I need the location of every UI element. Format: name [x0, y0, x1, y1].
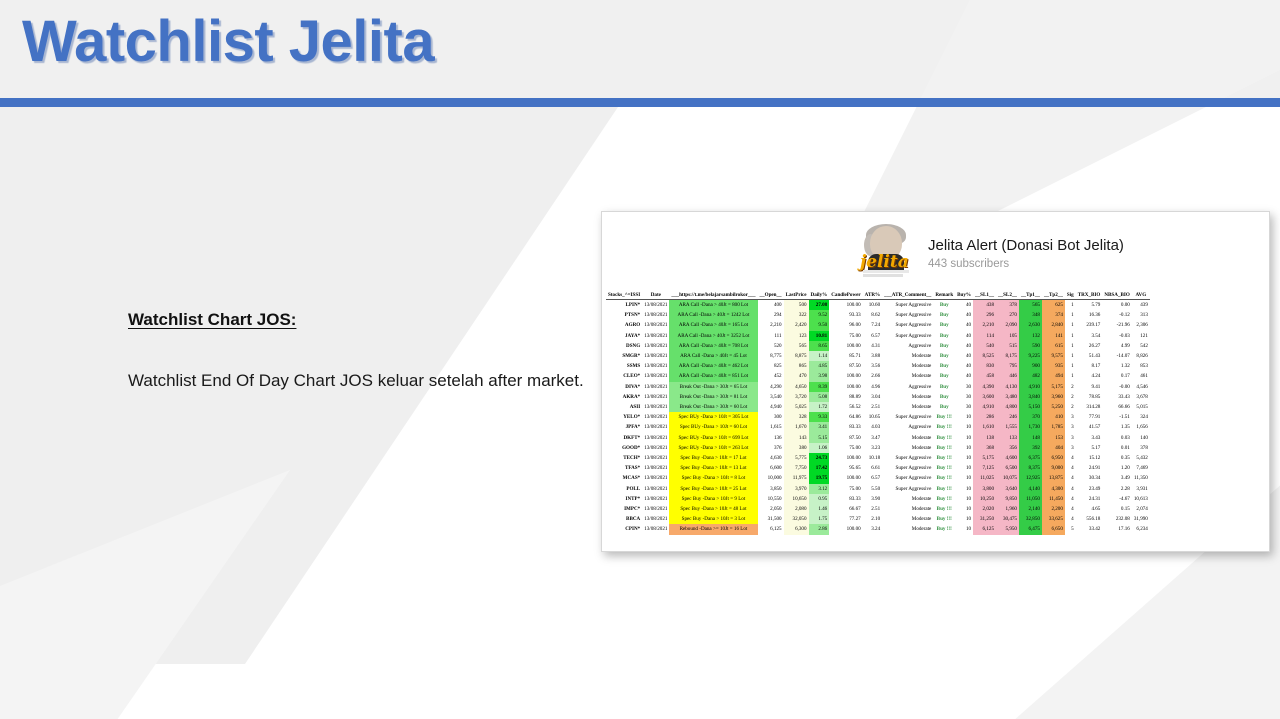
- cell-trx: 3.43: [1076, 433, 1103, 443]
- cell-date: 13/08/2021: [642, 300, 669, 311]
- cell-sig: 1: [1065, 331, 1076, 341]
- cell-cp: 100.00: [829, 371, 862, 381]
- cell-open: 3,540: [758, 392, 784, 402]
- cell-date: 13/08/2021: [642, 433, 669, 443]
- cell-tp2: 5,175: [1042, 382, 1065, 392]
- cell-sig: 1: [1065, 361, 1076, 371]
- cell-tp1: 370: [1019, 412, 1042, 422]
- cell-tick: CLEO*: [606, 371, 642, 381]
- table-row: ASII13/08/2021Break Out -Dana > 30Jt = 6…: [606, 402, 1150, 412]
- cell-last: 470: [784, 371, 809, 381]
- cell-sl2: 795: [996, 361, 1019, 371]
- cell-daily: 8.39: [809, 382, 830, 392]
- cell-url: Spec BUy -Dana > 10Jt = 699 Lot: [669, 433, 757, 443]
- cell-cp: 56.52: [829, 402, 862, 412]
- cell-daily: 1.46: [809, 504, 830, 514]
- cell-nbsa: 66.66: [1102, 402, 1131, 412]
- cell-tp2: 615: [1042, 341, 1065, 351]
- cell-daily: 9.33: [809, 412, 830, 422]
- slide-canvas: Watchlist Jelita Watchlist Chart JOS: Wa…: [0, 0, 1280, 719]
- channel-name: Jelita Alert (Donasi Bot Jelita): [928, 237, 1124, 254]
- cell-cp: 75.00: [829, 484, 862, 494]
- cell-buy: 10: [955, 494, 973, 504]
- cell-date: 13/08/2021: [642, 341, 669, 351]
- cell-cmt: Aggressive: [882, 422, 933, 432]
- cell-open: 3,850: [758, 484, 784, 494]
- cell-sig: 4: [1065, 473, 1076, 483]
- cell-nbsa: -4.67: [1102, 494, 1131, 504]
- cell-avg: 5,015: [1132, 402, 1150, 412]
- accent-bar: [0, 98, 1280, 107]
- cell-rmk: Buy: [933, 331, 955, 341]
- cell-sl2: 6,500: [996, 463, 1019, 473]
- cell-url: ARA Call -Dana > 40Jt = 851 Lot: [669, 371, 757, 381]
- cell-open: 376: [758, 443, 784, 453]
- cell-atr: 4.03: [863, 422, 882, 432]
- cell-buy: 10: [955, 514, 973, 524]
- cell-url: ARA Call -Dana > 40Jt = 800 Lot: [669, 300, 757, 311]
- table-row: AKRA*13/08/2021Break Out -Dana > 30Jt = …: [606, 392, 1150, 402]
- cell-atr: 3.04: [863, 392, 882, 402]
- cell-nbsa: 1.32: [1102, 361, 1131, 371]
- cell-last: 380: [784, 443, 809, 453]
- column-header: __SL1__: [973, 292, 996, 300]
- table-row: MCAS*13/08/2021Spec Buy -Dana > 10Jt = 8…: [606, 473, 1150, 483]
- cell-sl1: 7,125: [973, 463, 996, 473]
- cell-url: Break Out -Dana > 30Jt = 65 Lot: [669, 382, 757, 392]
- cell-rmk: Buy: [933, 300, 955, 311]
- cell-tp1: 9,225: [1019, 351, 1042, 361]
- cell-nbsa: 0.00: [1102, 300, 1131, 311]
- cell-sl1: 6,125: [973, 524, 996, 534]
- avatar-wordmark: jelita: [860, 252, 909, 272]
- cell-rmk: Buy !!!: [933, 473, 955, 483]
- section-paragraph: Watchlist End Of Day Chart JOS keluar se…: [128, 368, 598, 394]
- channel-header: jelita Jelita Alert (Donasi Bot Jelita) …: [602, 212, 1269, 286]
- cell-cmt: Moderate: [882, 504, 933, 514]
- cell-trx: 5.17: [1076, 443, 1103, 453]
- embedded-screenshot: jelita Jelita Alert (Donasi Bot Jelita) …: [601, 211, 1270, 552]
- cell-tp2: 410: [1042, 412, 1065, 422]
- cell-trx: 41.57: [1076, 422, 1103, 432]
- cell-cp: 93.33: [829, 310, 862, 320]
- cell-tp1: 5,150: [1019, 402, 1042, 412]
- cell-tp1: 12,925: [1019, 473, 1042, 483]
- cell-tick: INTP*: [606, 494, 642, 504]
- cell-atr: 3.23: [863, 443, 882, 453]
- cell-cmt: Super Aggressive: [882, 484, 933, 494]
- cell-tick: SMGR*: [606, 351, 642, 361]
- cell-sl1: 3,800: [973, 484, 996, 494]
- cell-tp1: 4,910: [1019, 382, 1042, 392]
- cell-buy: 30: [955, 402, 973, 412]
- cell-cp: 100.00: [829, 300, 862, 311]
- cell-open: 2,050: [758, 504, 784, 514]
- cell-buy: 40: [955, 371, 973, 381]
- cell-trx: 8.17: [1076, 361, 1103, 371]
- cell-daily: 1.14: [809, 351, 830, 361]
- cell-date: 13/08/2021: [642, 453, 669, 463]
- cell-sig: 4: [1065, 504, 1076, 514]
- cell-last: 565: [784, 341, 809, 351]
- cell-cp: 100.00: [829, 341, 862, 351]
- cell-atr: 4.96: [863, 382, 882, 392]
- cell-sl2: 356: [996, 443, 1019, 453]
- cell-avg: 542: [1132, 341, 1150, 351]
- cell-tick: JPFA*: [606, 422, 642, 432]
- cell-url: ARA Call -Dana > 40Jt = 165 Lot: [669, 320, 757, 330]
- cell-tp2: 935: [1042, 361, 1065, 371]
- cell-sl2: 8,175: [996, 351, 1019, 361]
- cell-last: 2,420: [784, 320, 809, 330]
- cell-sl2: 10,075: [996, 473, 1019, 483]
- cell-tick: AKRA*: [606, 392, 642, 402]
- cell-url: ARA Call -Dana > 40Jt = 708 Lot: [669, 341, 757, 351]
- cell-sl1: 368: [973, 443, 996, 453]
- cell-tp1: 2,140: [1019, 504, 1042, 514]
- cell-tp1: 132: [1019, 331, 1042, 341]
- cell-tp2: 2,200: [1042, 504, 1065, 514]
- cell-atr: 6.61: [863, 463, 882, 473]
- cell-sig: 4: [1065, 463, 1076, 473]
- cell-atr: 4.31: [863, 341, 882, 351]
- cell-nbsa: -0.03: [1102, 331, 1131, 341]
- cell-sl1: 114: [973, 331, 996, 341]
- cell-daily: 5.15: [809, 433, 830, 443]
- cell-cmt: Moderate: [882, 433, 933, 443]
- cell-daily: 0.95: [809, 494, 830, 504]
- cell-cp: 66.67: [829, 504, 862, 514]
- cell-cp: 96.00: [829, 320, 862, 330]
- cell-rmk: Buy: [933, 371, 955, 381]
- cell-last: 8,875: [784, 351, 809, 361]
- cell-daily: 24.73: [809, 453, 830, 463]
- cell-last: 7,750: [784, 463, 809, 473]
- cell-sl2: 3,640: [996, 484, 1019, 494]
- cell-tp1: 348: [1019, 310, 1042, 320]
- cell-rmk: Buy !!!: [933, 433, 955, 443]
- cell-date: 13/08/2021: [642, 392, 669, 402]
- cell-date: 13/08/2021: [642, 484, 669, 494]
- cell-rmk: Buy !!!: [933, 494, 955, 504]
- cell-daily: 1.72: [809, 402, 830, 412]
- cell-open: 136: [758, 433, 784, 443]
- cell-tp2: 9,575: [1042, 351, 1065, 361]
- cell-tp2: 625: [1042, 300, 1065, 311]
- page-title: Watchlist Jelita: [22, 8, 434, 75]
- cell-buy: 10: [955, 473, 973, 483]
- cell-open: 4,630: [758, 453, 784, 463]
- cell-atr: 10.65: [863, 412, 882, 422]
- cell-atr: 3.56: [863, 361, 882, 371]
- cell-atr: 3.24: [863, 524, 882, 534]
- cell-sig: 1: [1065, 300, 1076, 311]
- cell-tp1: 148: [1019, 433, 1042, 443]
- cell-tick: AGRO: [606, 320, 642, 330]
- cell-daily: 2.86: [809, 524, 830, 534]
- cell-cp: 100.00: [829, 453, 862, 463]
- cell-sl2: 1,555: [996, 422, 1019, 432]
- column-header: Remark: [933, 292, 955, 300]
- cell-atr: 3.90: [863, 494, 882, 504]
- cell-cmt: Moderate: [882, 494, 933, 504]
- cell-cp: 100.00: [829, 382, 862, 392]
- cell-buy: 40: [955, 310, 973, 320]
- cell-daily: 27.08: [809, 300, 830, 311]
- cell-rmk: Buy !!!: [933, 524, 955, 534]
- cell-atr: 10.60: [863, 300, 882, 311]
- cell-sig: 3: [1065, 433, 1076, 443]
- table-row: SSMS13/08/2021ARA Call -Dana > 40Jt = 46…: [606, 361, 1150, 371]
- cell-open: 6,125: [758, 524, 784, 534]
- cell-sig: 5: [1065, 524, 1076, 534]
- cell-tick: IMPC*: [606, 504, 642, 514]
- cell-date: 13/08/2021: [642, 331, 669, 341]
- column-header: AVG: [1132, 292, 1150, 300]
- cell-url: ARA Call -Dana > 40Jt = 45 Lot: [669, 351, 757, 361]
- cell-buy: 30: [955, 392, 973, 402]
- cell-sl2: 105: [996, 331, 1019, 341]
- cell-nbsa: -14.07: [1102, 351, 1131, 361]
- cell-url: Break Out -Dana > 30Jt = 60 Lot: [669, 402, 757, 412]
- cell-sl2: 1,960: [996, 504, 1019, 514]
- cell-tick: SSMS: [606, 361, 642, 371]
- cell-trx: 24.91: [1076, 463, 1103, 473]
- cell-trx: 78.85: [1076, 392, 1103, 402]
- cell-rmk: Buy !!!: [933, 514, 955, 524]
- cell-avg: 3,678: [1132, 392, 1150, 402]
- cell-tp2: 374: [1042, 310, 1065, 320]
- cell-avg: 5,432: [1132, 453, 1150, 463]
- cell-avg: 11,350: [1132, 473, 1150, 483]
- cell-sl2: 2,090: [996, 320, 1019, 330]
- cell-sl1: 2,210: [973, 320, 996, 330]
- column-header: __Tp1__: [1019, 292, 1042, 300]
- cell-url: Spec BUy -Dana > 10Jt = 60 Lot: [669, 422, 757, 432]
- cell-avg: 2,306: [1132, 320, 1150, 330]
- cell-trx: 51.43: [1076, 351, 1103, 361]
- cell-sl2: 30,475: [996, 514, 1019, 524]
- cell-sig: 1: [1065, 320, 1076, 330]
- cell-sig: 2: [1065, 382, 1076, 392]
- column-header: __Open__: [758, 292, 784, 300]
- cell-tick: TECH*: [606, 453, 642, 463]
- cell-date: 13/08/2021: [642, 310, 669, 320]
- cell-trx: 239.17: [1076, 320, 1103, 330]
- watchlist-table: Stocks_^=ISSIDate___https://t.me/belajar…: [606, 292, 1150, 535]
- cell-trx: 77.91: [1076, 412, 1103, 422]
- cell-date: 13/08/2021: [642, 514, 669, 524]
- cell-url: Rebound -Dana >= 10Jt = 16 Lot: [669, 524, 757, 534]
- cell-url: Spec BUy -Dana > 10Jt = 305 Lot: [669, 412, 757, 422]
- table-row: DKFT*13/08/2021Spec BUy -Dana > 10Jt = 6…: [606, 433, 1150, 443]
- cell-cp: 95.65: [829, 463, 862, 473]
- cell-trx: 24.31: [1076, 494, 1103, 504]
- cell-rmk: Buy !!!: [933, 504, 955, 514]
- cell-nbsa: 33.43: [1102, 392, 1131, 402]
- cell-buy: 40: [955, 331, 973, 341]
- cell-sl1: 2,020: [973, 504, 996, 514]
- table-row: AGRO13/08/2021ARA Call -Dana > 40Jt = 16…: [606, 320, 1150, 330]
- cell-cmt: Super Aggressive: [882, 320, 933, 330]
- cell-open: 2,210: [758, 320, 784, 330]
- cell-sl1: 4,910: [973, 402, 996, 412]
- cell-daily: 3.12: [809, 484, 830, 494]
- cell-rmk: Buy !!!: [933, 484, 955, 494]
- cell-cmt: Moderate: [882, 514, 933, 524]
- cell-last: 4,650: [784, 382, 809, 392]
- cell-url: Spec Buy -Dana > 10Jt = 13 Lot: [669, 463, 757, 473]
- cell-avg: 1,656: [1132, 422, 1150, 432]
- cell-sig: 3: [1065, 412, 1076, 422]
- cell-open: 8,775: [758, 351, 784, 361]
- table-row: DSNG13/08/2021ARA Call -Dana > 40Jt = 70…: [606, 341, 1150, 351]
- cell-sl1: 830: [973, 361, 996, 371]
- cell-atr: 2.10: [863, 514, 882, 524]
- cell-tp2: 11,450: [1042, 494, 1065, 504]
- cell-trx: 4.24: [1076, 371, 1103, 381]
- cell-sl2: 4,800: [996, 402, 1019, 412]
- cell-trx: 16.36: [1076, 310, 1103, 320]
- cell-trx: 314.28: [1076, 402, 1103, 412]
- cell-tick: JAYA*: [606, 331, 642, 341]
- cell-url: Break Out -Dana > 30Jt = 81 Lot: [669, 392, 757, 402]
- table-row: TECH*13/08/2021Spec Buy -Dana > 10Jt = 1…: [606, 453, 1150, 463]
- cell-buy: 40: [955, 320, 973, 330]
- cell-tp1: 900: [1019, 361, 1042, 371]
- column-header: TRX_BIO: [1076, 292, 1103, 300]
- cell-tp1: 565: [1019, 300, 1042, 311]
- cell-daily: 9.50: [809, 320, 830, 330]
- cell-url: Spec Buy -Dana > 10Jt = 9 Lot: [669, 494, 757, 504]
- cell-url: Spec Buy -Dana > 10Jt = 8 Lot: [669, 473, 757, 483]
- cell-nbsa: 17.16: [1102, 524, 1131, 534]
- cell-last: 500: [784, 300, 809, 311]
- cell-atr: 6.57: [863, 331, 882, 341]
- cell-last: 3,970: [784, 484, 809, 494]
- cell-tick: LPIN*: [606, 300, 642, 311]
- cell-sl1: 296: [973, 310, 996, 320]
- cell-buy: 10: [955, 484, 973, 494]
- cell-tp1: 1,730: [1019, 422, 1042, 432]
- cell-tick: CPIN*: [606, 524, 642, 534]
- cell-nbsa: 3.49: [1102, 473, 1131, 483]
- cell-cmt: Super Aggressive: [882, 300, 933, 311]
- cell-avg: 853: [1132, 361, 1150, 371]
- cell-tick: POLL: [606, 484, 642, 494]
- cell-sl1: 5,175: [973, 453, 996, 463]
- cell-trx: 15.12: [1076, 453, 1103, 463]
- cell-cp: 87.50: [829, 361, 862, 371]
- cell-rmk: Buy !!!: [933, 443, 955, 453]
- cell-nbsa: 0.15: [1102, 504, 1131, 514]
- channel-avatar-icon: jelita: [858, 226, 914, 280]
- cell-date: 13/08/2021: [642, 382, 669, 392]
- cell-avg: 10,613: [1132, 494, 1150, 504]
- cell-avg: 31,990: [1132, 514, 1150, 524]
- cell-avg: 324: [1132, 412, 1150, 422]
- cell-cp: 87.50: [829, 433, 862, 443]
- cell-tp1: 3,840: [1019, 392, 1042, 402]
- cell-open: 825: [758, 361, 784, 371]
- cell-tp1: 482: [1019, 371, 1042, 381]
- cell-daily: 17.42: [809, 463, 830, 473]
- cell-url: Spec Buy -Dana > 10Jt = 3 Lot: [669, 514, 757, 524]
- cell-open: 1,615: [758, 422, 784, 432]
- cell-atr: 8.62: [863, 310, 882, 320]
- cell-cmt: Super Aggressive: [882, 453, 933, 463]
- table-row: YELO*13/08/2021Spec BUy -Dana > 10Jt = 3…: [606, 412, 1150, 422]
- cell-date: 13/08/2021: [642, 463, 669, 473]
- cell-sl1: 1,610: [973, 422, 996, 432]
- cell-open: 6,600: [758, 463, 784, 473]
- cell-tp1: 392: [1019, 443, 1042, 453]
- cell-nbsa: 1.20: [1102, 463, 1131, 473]
- cell-trx: 5.79: [1076, 300, 1103, 311]
- cell-open: 10,000: [758, 473, 784, 483]
- cell-date: 13/08/2021: [642, 494, 669, 504]
- cell-cp: 75.00: [829, 443, 862, 453]
- column-header: ___ATR_Comment__: [882, 292, 933, 300]
- cell-nbsa: 1.35: [1102, 422, 1131, 432]
- cell-nbsa: 2.28: [1102, 484, 1131, 494]
- cell-url: Spec BUy -Dana > 10Jt = 263 Lot: [669, 443, 757, 453]
- cell-tp2: 404: [1042, 443, 1065, 453]
- cell-cmt: Moderate: [882, 402, 933, 412]
- cell-avg: 313: [1132, 310, 1150, 320]
- section-heading: Watchlist Chart JOS:: [128, 310, 296, 330]
- cell-cp: 100.00: [829, 473, 862, 483]
- cell-open: 4,290: [758, 382, 784, 392]
- cell-nbsa: 0.01: [1102, 443, 1131, 453]
- cell-nbsa: 0.03: [1102, 433, 1131, 443]
- table-row: GOOD*13/08/2021Spec BUy -Dana > 10Jt = 2…: [606, 443, 1150, 453]
- cell-buy: 10: [955, 453, 973, 463]
- cell-sig: 1: [1065, 351, 1076, 361]
- cell-sig: 3: [1065, 443, 1076, 453]
- cell-buy: 10: [955, 412, 973, 422]
- cell-sig: 4: [1065, 484, 1076, 494]
- cell-open: 520: [758, 341, 784, 351]
- cell-sl2: 270: [996, 310, 1019, 320]
- cell-url: Spec Buy -Dana > 10Jt = 48 Lot: [669, 504, 757, 514]
- cell-cp: 64.86: [829, 412, 862, 422]
- cell-avg: 461: [1132, 371, 1150, 381]
- cell-atr: 7.24: [863, 320, 882, 330]
- cell-daily: 10.81: [809, 331, 830, 341]
- cell-cmt: Super Aggressive: [882, 463, 933, 473]
- cell-buy: 30: [955, 382, 973, 392]
- cell-daily: 1.06: [809, 443, 830, 453]
- cell-open: 294: [758, 310, 784, 320]
- table-row: LPIN*13/08/2021ARA Call -Dana > 40Jt = 8…: [606, 300, 1150, 311]
- cell-cmt: Super Aggressive: [882, 331, 933, 341]
- cell-cp: 75.00: [829, 331, 862, 341]
- cell-sl2: 3,480: [996, 392, 1019, 402]
- cell-tick: ASII: [606, 402, 642, 412]
- cell-sl2: 4,600: [996, 453, 1019, 463]
- cell-avg: 378: [1132, 443, 1150, 453]
- cell-rmk: Buy: [933, 320, 955, 330]
- table-row: INTP*13/08/2021Spec Buy -Dana > 10Jt = 9…: [606, 494, 1150, 504]
- cell-atr: 2.66: [863, 371, 882, 381]
- cell-cmt: Moderate: [882, 361, 933, 371]
- cell-sl2: 515: [996, 341, 1019, 351]
- cell-rmk: Buy: [933, 361, 955, 371]
- cell-rmk: Buy !!!: [933, 463, 955, 473]
- cell-date: 13/08/2021: [642, 351, 669, 361]
- cell-atr: 2.51: [863, 402, 882, 412]
